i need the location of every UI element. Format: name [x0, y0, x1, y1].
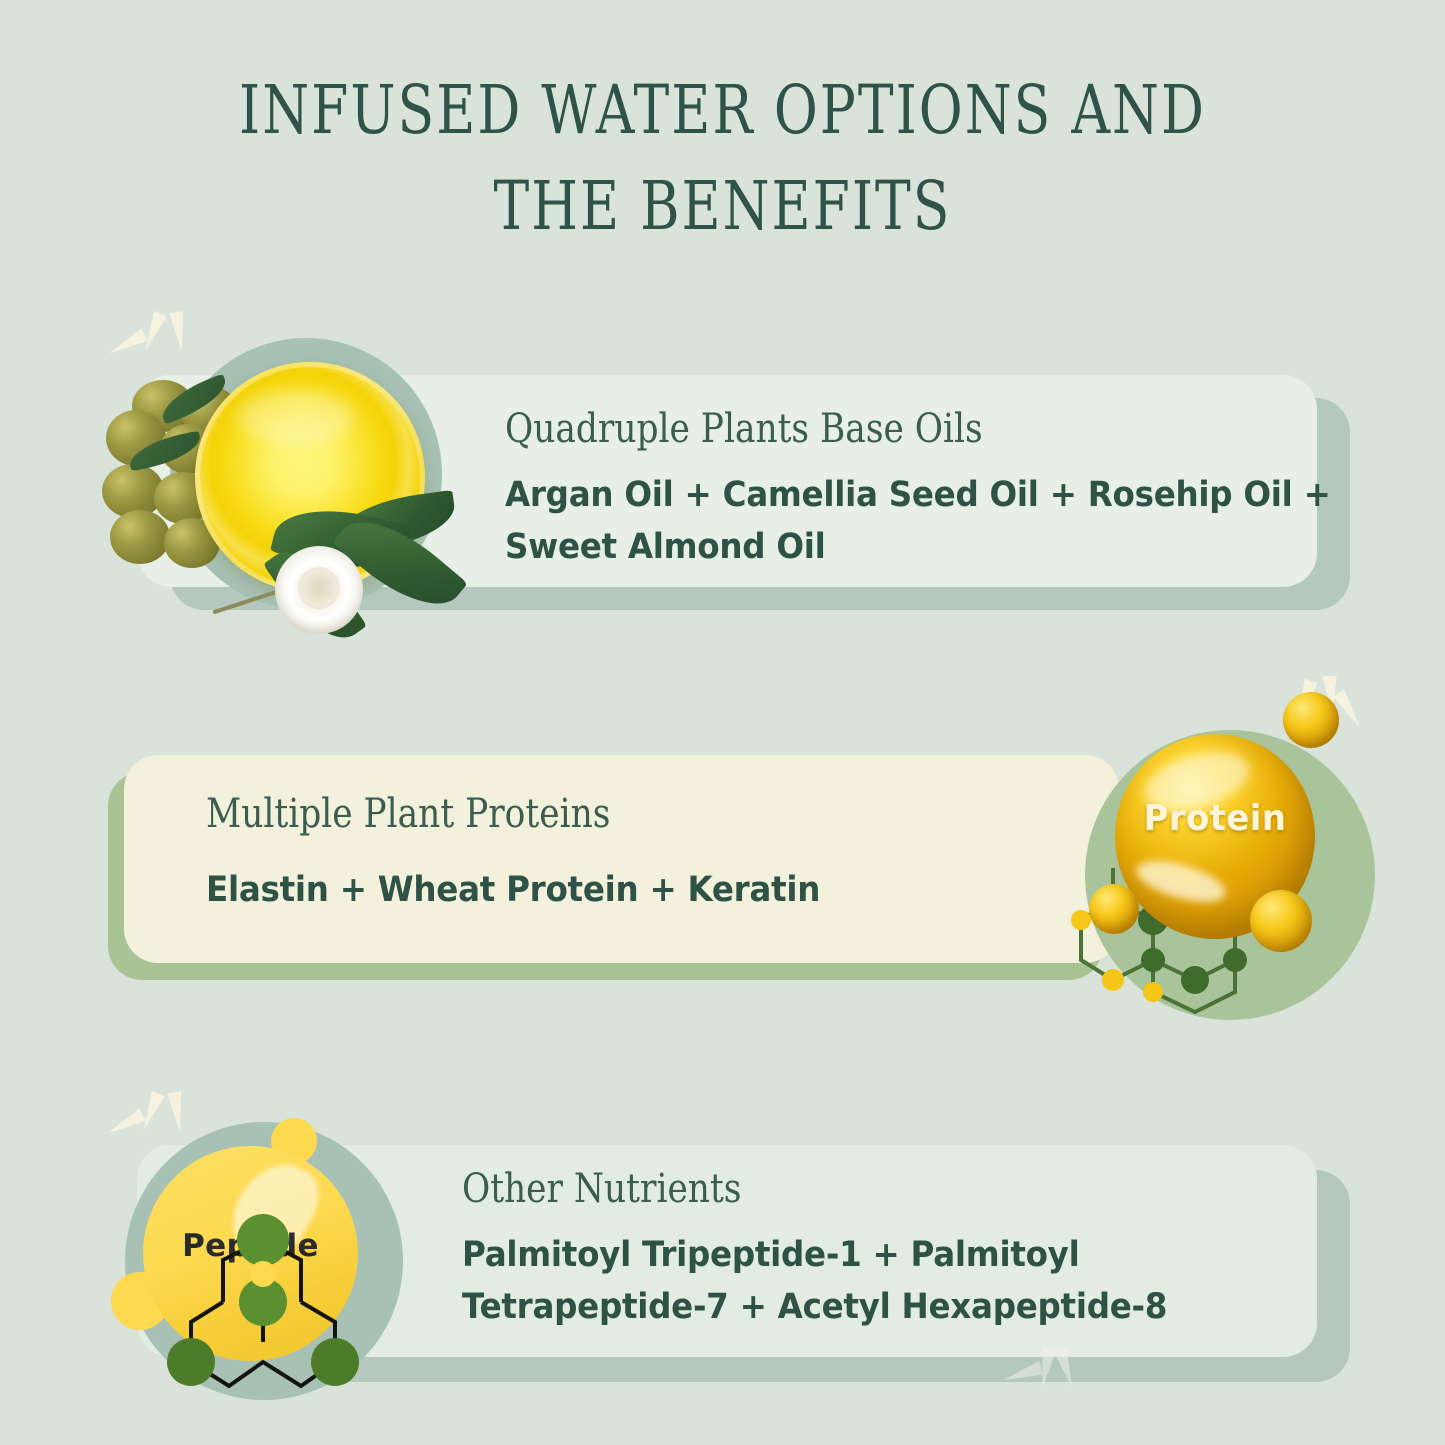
card-heading-3: Other Nutrients	[462, 1165, 1193, 1213]
card-body-3: Palmitoyl Tripeptide-1 + Palmitoyl Tetra…	[462, 1229, 1299, 1333]
peptide-sphere-image: Peptide	[95, 1090, 495, 1420]
card-other-nutrients: Other Nutrients Palmitoyl Tripeptide-1 +…	[0, 0, 1445, 1445]
molecule-diagram-peptide	[95, 1090, 495, 1420]
sparkle-decoration-4	[1015, 1348, 1095, 1398]
sparkle-ray	[1053, 1347, 1078, 1389]
card-text-3: Other Nutrients Palmitoyl Tripeptide-1 +…	[462, 1165, 1312, 1333]
infographic-page: INFUSED WATER OPTIONS AND THE BENEFITS Q…	[0, 0, 1445, 1445]
